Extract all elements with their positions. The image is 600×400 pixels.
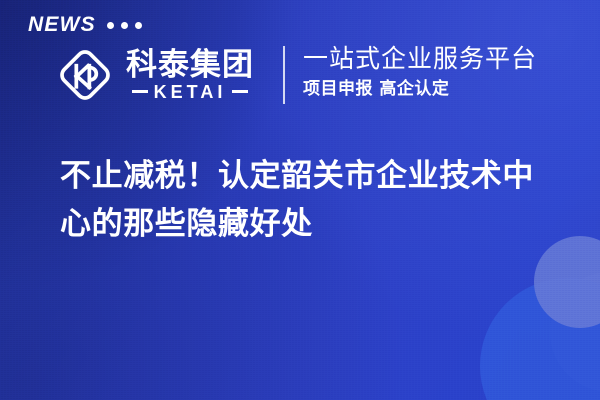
ketai-diamond-kd-logo-icon [54,44,116,106]
brand-rule-right [232,90,248,93]
brand-name-en-row: KETAI [126,83,254,101]
brand-names: 科泰集团 KETAI [126,49,254,100]
headline-line-2: 心的那些隐藏好处 [60,200,560,248]
brand-lockup: 科泰集团 KETAI [54,44,254,106]
tagline-main: 一站式企业服务平台 [303,44,537,75]
headline-line-1: 不止减税！认定韶关市企业技术中 [60,152,560,200]
news-kicker-label: NEWS [28,14,96,35]
brand-name-cn: 科泰集团 [126,49,254,81]
brand-rule-left [132,90,148,93]
kicker-dot-3 [135,22,142,29]
headline: 不止减税！认定韶关市企业技术中 心的那些隐藏好处 [60,152,560,248]
kicker-dot-2 [121,22,128,29]
kicker-dots-icon [107,22,142,29]
brand-tagline-divider [283,46,285,104]
brand-name-en: KETAI [154,83,227,101]
news-banner-image: NEWS 科泰集团 KETAI [0,0,600,400]
tagline-block: 一站式企业服务平台 项目申报 高企认定 [303,44,537,100]
news-kicker: NEWS [28,14,142,35]
kicker-dot-1 [107,22,114,29]
tagline-sub: 项目申报 高企认定 [303,78,537,100]
